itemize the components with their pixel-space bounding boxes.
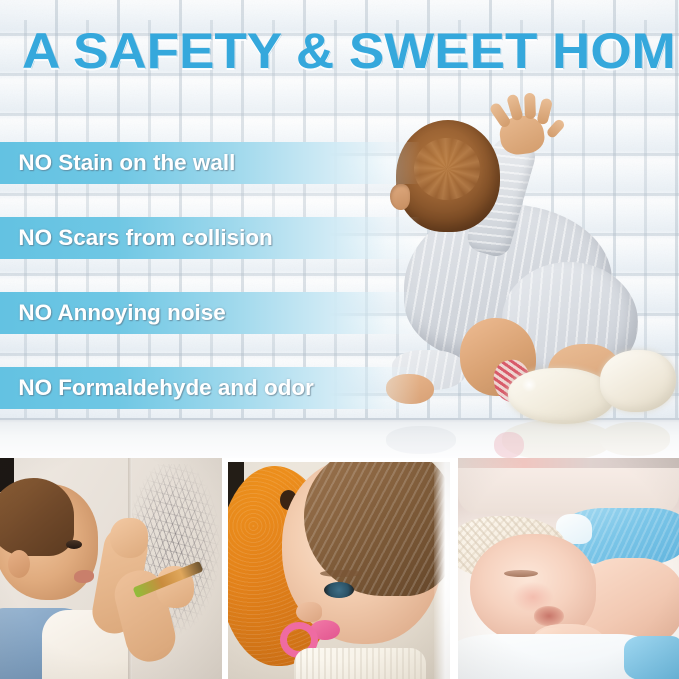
- baby-thumb: [545, 118, 566, 140]
- photo-child-with-bruise: [228, 462, 450, 679]
- feature-label: NO Stain on the wall: [0, 150, 235, 176]
- baby-mouth: [534, 606, 564, 626]
- baby-closed-eye: [504, 570, 538, 577]
- photo-sleeping-baby: [458, 458, 679, 679]
- baby-hair-swirl: [414, 138, 480, 200]
- feature-label: NO Scars from collision: [0, 225, 273, 251]
- feature-list: NO Stain on the wall NO Scars from colli…: [0, 142, 420, 442]
- reflection-shape: [600, 422, 670, 456]
- child-hair: [0, 478, 74, 556]
- feature-bar-noise: NO Annoying noise: [0, 292, 420, 334]
- bed-sheet: [458, 634, 644, 679]
- reflection-shape: [494, 432, 524, 458]
- photo-child-scribbling-wall: [0, 458, 222, 679]
- child-ear: [8, 550, 30, 578]
- child-eye: [324, 582, 354, 598]
- child-hand-on-wall: [110, 518, 148, 558]
- child-eye: [66, 540, 82, 549]
- blanket-fold: [624, 636, 679, 679]
- feature-bar-stain: NO Stain on the wall: [0, 142, 420, 184]
- child-mouth: [74, 570, 94, 583]
- photo-right-fade: [434, 462, 450, 679]
- feature-label: NO Annoying noise: [0, 300, 226, 326]
- baby-bootie-left: [508, 368, 614, 424]
- child-bib: [294, 648, 426, 679]
- child-eyebrow: [320, 570, 362, 577]
- product-poster: A SAFETY & SWEET HOME NO Stain on the wa…: [0, 0, 679, 679]
- feature-bar-scars: NO Scars from collision: [0, 217, 420, 259]
- child-nose: [296, 602, 322, 622]
- hero-scene: A SAFETY & SWEET HOME NO Stain on the wa…: [0, 0, 679, 458]
- baby-bootie-right: [600, 350, 676, 412]
- photo-strip: [0, 458, 679, 679]
- feature-bar-formaldehyde: NO Formaldehyde and odor: [0, 367, 420, 409]
- baby-finger: [524, 93, 536, 119]
- feature-label: NO Formaldehyde and odor: [0, 375, 314, 401]
- page-title: A SAFETY & SWEET HOME: [22, 24, 679, 78]
